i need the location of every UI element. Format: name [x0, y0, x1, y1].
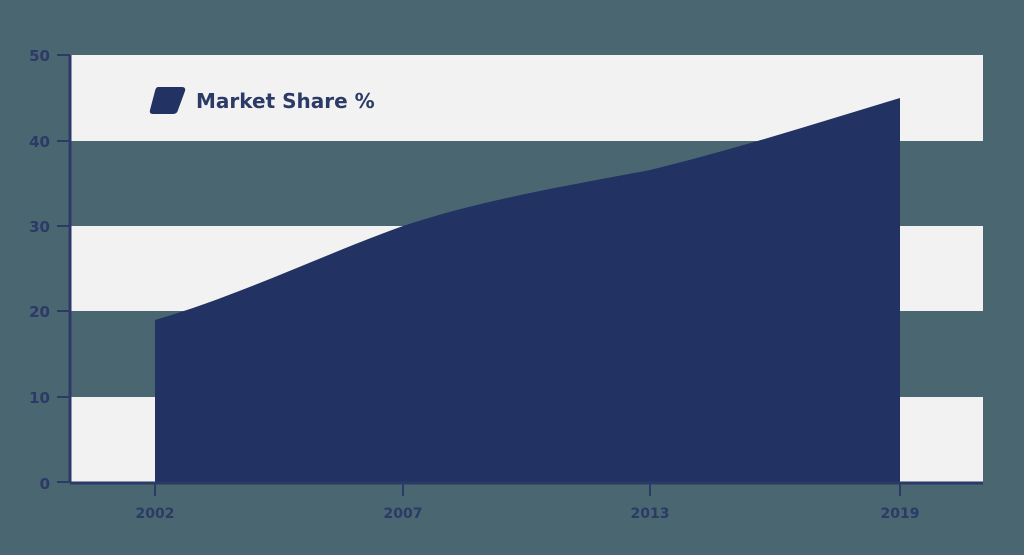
y-tick-label-0: 0 — [40, 475, 50, 493]
y-tick-label-20: 20 — [29, 303, 50, 321]
x-axis-ticks — [155, 484, 900, 496]
x-tick-label-2002: 2002 — [136, 506, 175, 522]
x-tick-label-2007: 2007 — [384, 506, 423, 522]
series-market-share — [155, 98, 900, 482]
area-chart: 50 40 30 20 10 0 2002 2007 2013 2019 Mar… — [0, 0, 1024, 555]
legend-label-market-share: Market Share % — [196, 89, 375, 113]
chart-container: 50 40 30 20 10 0 2002 2007 2013 2019 Mar… — [0, 0, 1024, 555]
x-axis-tick-labels: 2002 2007 2013 2019 — [136, 506, 920, 522]
x-tick-label-2019: 2019 — [881, 506, 920, 522]
y-axis-ticks — [57, 55, 70, 482]
y-tick-label-30: 30 — [29, 218, 50, 236]
y-tick-label-50: 50 — [29, 47, 50, 65]
area-path-market-share — [155, 98, 900, 482]
y-tick-label-10: 10 — [29, 389, 50, 407]
y-axis-tick-labels: 50 40 30 20 10 0 — [29, 47, 50, 493]
x-tick-label-2013: 2013 — [631, 506, 670, 522]
y-tick-label-40: 40 — [29, 133, 50, 151]
